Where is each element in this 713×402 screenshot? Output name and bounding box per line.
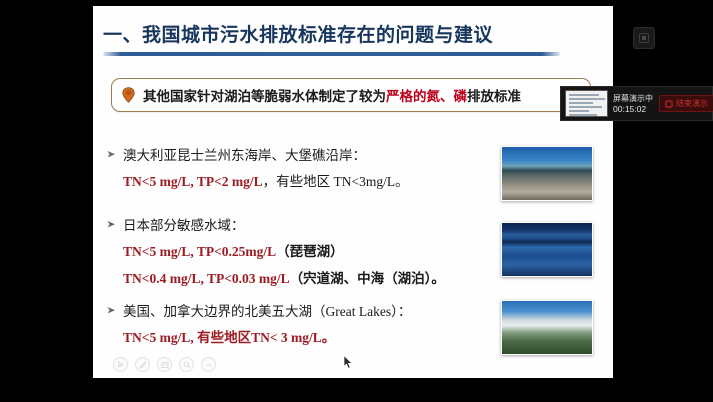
detail-black-text: ，有些地区 TN<3mg/L。 (263, 174, 409, 189)
beach-image (502, 147, 592, 200)
share-status-text: 屏幕演示中 (613, 93, 653, 104)
mouse-cursor (343, 355, 354, 375)
coastal-beach-photo (501, 146, 593, 201)
stop-share-icon (665, 100, 673, 108)
detail-black-text: （宍道湖、中海（湖泊）。 (290, 271, 445, 286)
waterfall-photo (501, 300, 593, 355)
title-underline-rule (103, 52, 560, 56)
detail-red-text: TN<0.4 mg/L, TP<0.03 mg/L (123, 271, 290, 286)
slide-toolbar[interactable] (113, 357, 216, 372)
slide-title-block: 一、我国城市污水排放标准存在的问题与建议 (103, 20, 603, 56)
detail-black-text: （琵琶湖） (276, 244, 344, 259)
share-timer: 00:15:02 (613, 104, 653, 115)
end-presentation-label: 结束演示 (676, 98, 708, 109)
end-presentation-button[interactable]: 结束演示 (659, 95, 713, 112)
app-badge-icon[interactable] (633, 27, 655, 49)
pen-tool-icon[interactable] (135, 357, 150, 372)
bullet-block-3: 美国、加拿大边界的北美五大湖（Great Lakes）： TN<5 mg/L, … (107, 300, 507, 346)
presentation-slide: 一、我国城市污水排放标准存在的问题与建议 其他国家针对湖泊等脆弱水体制定了较为严… (93, 6, 613, 378)
arrow-bullet-icon (107, 300, 123, 320)
screen-share-toolbar[interactable]: 屏幕演示中 00:15:02 结束演示 (560, 86, 713, 121)
screen-root: 一、我国城市污水排放标准存在的问题与建议 其他国家针对湖泊等脆弱水体制定了较为严… (0, 0, 713, 402)
bullet-detail-line: TN<0.4 mg/L, TP<0.03 mg/L（宍道湖、中海（湖泊）。 (123, 267, 507, 287)
screen-preview-thumbnail[interactable] (565, 90, 608, 117)
bullet-detail-line: TN<5 mg/L, TP<0.25mg/L（琵琶湖） (123, 240, 507, 260)
arrow-bullet-icon (107, 144, 123, 164)
share-status-block: 屏幕演示中 00:15:02 (613, 93, 653, 115)
bullet-block-2: 日本部分敏感水域： TN<5 mg/L, TP<0.25mg/L（琵琶湖） TN… (107, 214, 507, 287)
detail-red-text: TN<5 mg/L, TP<0.25mg/L (123, 244, 276, 259)
bullet-heading: 美国、加拿大边界的北美五大湖（Great Lakes）： (123, 300, 411, 320)
detail-red-text: TN<5 mg/L, TP<2 mg/L (123, 174, 263, 189)
bullet-detail-line: TN<5 mg/L, 有些地区TN< 3 mg/L。 (123, 326, 507, 346)
slide-list-icon[interactable] (157, 357, 172, 372)
arrow-bullet-icon (107, 214, 123, 234)
blue-lake-photo (501, 222, 593, 277)
bullet-detail-line: TN<5 mg/L, TP<2 mg/L，有些地区 TN<3mg/L。 (123, 170, 507, 190)
lake-image (502, 223, 592, 276)
bullet-heading: 澳大利亚昆士兰州东海岸、大堡礁沿岸： (123, 144, 366, 164)
location-pin-icon (122, 87, 135, 103)
callout-box: 其他国家针对湖泊等脆弱水体制定了较为严格的氮、磷排放标准 (111, 78, 591, 112)
more-menu-icon[interactable] (201, 357, 216, 372)
detail-red-text: TN<5 mg/L, 有些地区TN< 3 mg/L。 (123, 330, 335, 345)
callout-text-emphasis: 严格的氮、磷 (386, 89, 467, 104)
waterfall-image (502, 301, 592, 354)
bullet-heading: 日本部分敏感水域： (123, 214, 245, 234)
play-button-icon[interactable] (113, 357, 128, 372)
callout-text-after: 排放标准 (467, 89, 521, 104)
zoom-search-icon[interactable] (179, 357, 194, 372)
callout-text: 其他国家针对湖泊等脆弱水体制定了较为严格的氮、磷排放标准 (143, 85, 521, 105)
page-title: 一、我国城市污水排放标准存在的问题与建议 (103, 20, 603, 47)
callout-text-before: 其他国家针对湖泊等脆弱水体制定了较为 (143, 89, 386, 104)
bullet-block-1: 澳大利亚昆士兰州东海岸、大堡礁沿岸： TN<5 mg/L, TP<2 mg/L，… (107, 144, 507, 190)
